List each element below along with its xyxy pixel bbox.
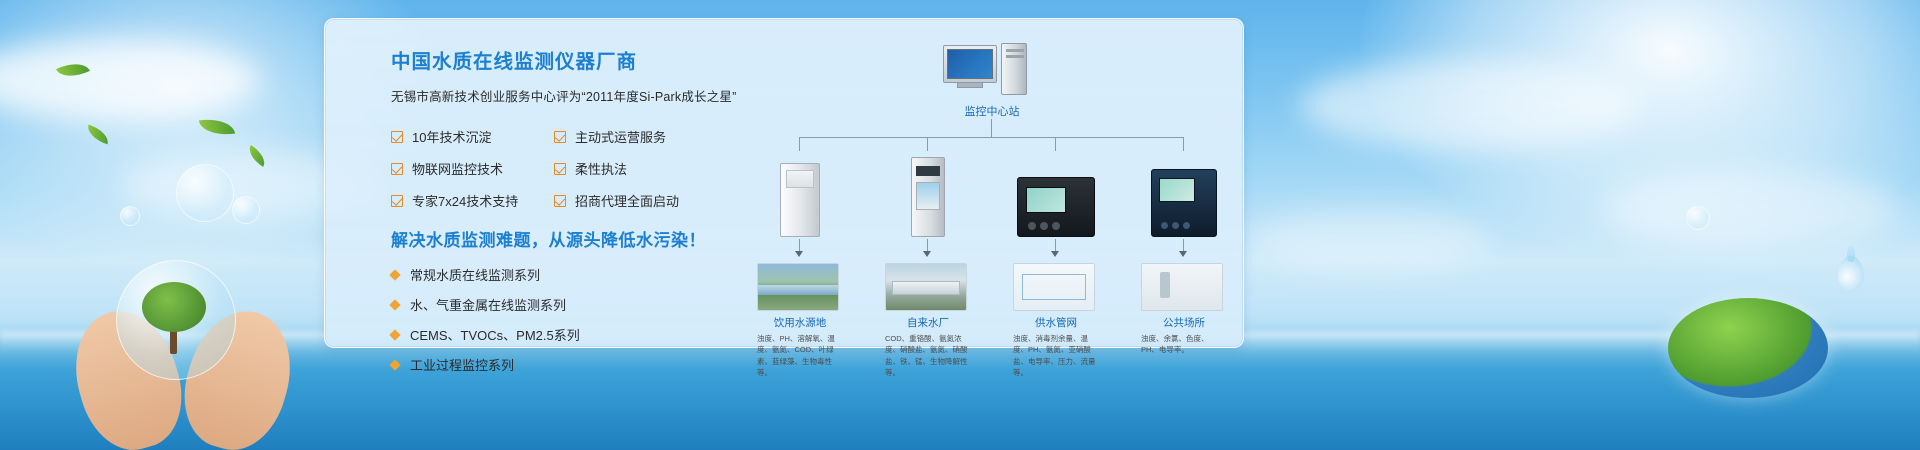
product-line-list: 常规水质在线监测系列 水、气重金属在线监测系列 CEMS、TVOCs、PM2.5… <box>391 265 741 374</box>
checkbox-checked-icon <box>391 195 403 207</box>
connector-branch <box>1055 137 1056 151</box>
scene-node: 自来水厂 COD、重铬酸、氨氮浓度、硝酸盐、氨氮、硝酸盐、铁、锰、生物降解性等。 <box>885 263 971 378</box>
bubble-4 <box>1686 206 1710 230</box>
scene-node: 公共场所 浊度、余氯、色度、PH、电导率。 <box>1141 263 1227 356</box>
black-panel-controller-icon <box>1017 177 1095 237</box>
feature-checklist: 10年技术沉淀 主动式运营服务 物联网监控技术 柔性执法 <box>391 127 741 210</box>
feature-item: 10年技术沉淀 <box>391 127 554 146</box>
list-item: 常规水质在线监测系列 <box>391 265 741 284</box>
page-title: 中国水质在线监测仪器厂商 <box>391 45 741 74</box>
sun-glow <box>1360 0 1920 260</box>
scene-caption: 饮用水源地 <box>757 315 843 330</box>
diamond-bullet-icon <box>389 329 400 340</box>
system-topology-diagram: 监控中心站 <box>755 37 1225 337</box>
bubble-1 <box>176 164 234 222</box>
arrow-down-icon <box>1179 251 1187 257</box>
cloud-5 <box>1250 210 1490 270</box>
scene-node: 饮用水源地 浊度、PH、溶解氧、温度、氨氮、COD、叶绿素、蓝绿藻、生物毒性等。 <box>757 263 843 378</box>
bubble-3 <box>120 206 140 226</box>
feature-item: 专家7x24技术支持 <box>391 191 554 210</box>
feature-label: 专家7x24技术支持 <box>412 191 518 210</box>
center-station-label: 监控中心站 <box>917 103 1067 119</box>
arrow-down-icon <box>1051 251 1059 257</box>
feature-row: 专家7x24技术支持 招商代理全面启动 <box>391 191 741 210</box>
product-line-label: CEMS、TVOCs、PM2.5系列 <box>410 325 580 344</box>
checkbox-checked-icon <box>554 163 566 175</box>
scene-description: 浊度、消毒剂余量、温度、PH、氨氮、亚硝酸盐、电导率、压力、流量等。 <box>1013 333 1097 378</box>
grey-cabinet-analyzer-icon <box>911 157 945 237</box>
blue-panel-controller-icon <box>1151 169 1217 237</box>
list-item: CEMS、TVOCs、PM2.5系列 <box>391 325 741 344</box>
tree-foliage <box>142 282 206 332</box>
product-line-label: 工业过程监控系列 <box>410 355 514 374</box>
section-heading: 解决水质监测难题，从源头降低水污染！ <box>391 226 741 251</box>
feature-item: 物联网监控技术 <box>391 159 554 178</box>
device-image <box>885 151 971 237</box>
controller-buttons <box>1028 222 1060 230</box>
device-node <box>1141 151 1227 237</box>
arrow-down-icon <box>795 251 803 257</box>
pc-tower-icon <box>1001 43 1027 95</box>
scene-caption: 供水管网 <box>1013 315 1099 330</box>
list-item: 水、气重金属在线监测系列 <box>391 295 741 314</box>
diamond-bullet-icon <box>389 299 400 310</box>
scene-photo-water-network <box>1013 263 1095 311</box>
device-node <box>1013 151 1099 237</box>
connector-bus <box>799 137 1183 138</box>
hands-holding-tree-illustration <box>78 260 288 450</box>
scene-caption: 自来水厂 <box>885 315 971 330</box>
checkbox-checked-icon <box>554 195 566 207</box>
checkbox-checked-icon <box>391 163 403 175</box>
device-image <box>1141 151 1227 237</box>
checkbox-checked-icon <box>554 131 566 143</box>
controller-lcd <box>1026 187 1066 213</box>
feature-item: 主动式运营服务 <box>554 127 666 146</box>
scene-photo-public-place <box>1141 263 1223 311</box>
arrow-down-icon <box>923 251 931 257</box>
scene-caption: 公共场所 <box>1141 315 1227 330</box>
connector-branch <box>799 137 800 151</box>
device-node <box>885 151 971 237</box>
controller-buttons <box>1161 222 1190 229</box>
device-node <box>757 151 843 237</box>
diamond-bullet-icon <box>389 359 400 370</box>
scene-description: 浊度、余氯、色度、PH、电导率。 <box>1141 333 1225 356</box>
globe-sphere <box>1668 298 1828 398</box>
scene-description: COD、重铬酸、氨氮浓度、硝酸盐、氨氮、硝酸盐、铁、锰、生物降解性等。 <box>885 333 969 378</box>
feature-label: 主动式运营服务 <box>575 127 666 146</box>
feature-item: 柔性执法 <box>554 159 627 178</box>
scene-description: 浊度、PH、溶解氧、温度、氨氮、COD、叶绿素、蓝绿藻、生物毒性等。 <box>757 333 841 378</box>
feature-row: 10年技术沉淀 主动式运营服务 <box>391 127 741 146</box>
scene-photo-drinking-water-source <box>757 263 839 311</box>
product-line-label: 水、气重金属在线监测系列 <box>410 295 566 314</box>
monitor-screen <box>947 49 993 79</box>
checkbox-checked-icon <box>391 131 403 143</box>
connector-branch <box>927 137 928 151</box>
monitor-icon <box>943 45 997 83</box>
feature-row: 物联网监控技术 柔性执法 <box>391 159 741 178</box>
white-cabinet-analyzer-icon <box>780 163 820 237</box>
controller-lcd <box>1159 178 1195 202</box>
list-item: 工业过程监控系列 <box>391 355 741 374</box>
green-earth-illustration <box>1668 288 1828 398</box>
banner-text-column: 中国水质在线监测仪器厂商 无锡市高新技术创业服务中心评为“2011年度Si-Pa… <box>391 45 741 385</box>
device-image <box>1013 151 1099 237</box>
bubble-2 <box>232 196 260 224</box>
connector-trunk <box>991 119 992 137</box>
feature-label: 招商代理全面启动 <box>575 191 679 210</box>
device-image <box>757 151 843 237</box>
monitor-stand <box>957 83 983 88</box>
feature-label: 10年技术沉淀 <box>412 127 491 146</box>
connector-branch <box>1183 137 1184 151</box>
feature-label: 物联网监控技术 <box>412 159 503 178</box>
banner-panel: 中国水质在线监测仪器厂商 无锡市高新技术创业服务中心评为“2011年度Si-Pa… <box>324 18 1244 348</box>
product-line-label: 常规水质在线监测系列 <box>410 265 540 284</box>
scene-photo-water-plant <box>885 263 967 311</box>
feature-label: 柔性执法 <box>575 159 627 178</box>
scene-node: 供水管网 浊度、消毒剂余量、温度、PH、氨氮、亚硝酸盐、电导率、压力、流量等。 <box>1013 263 1099 378</box>
monitoring-center-computer-icon <box>943 43 1039 95</box>
diamond-bullet-icon <box>389 269 400 280</box>
water-drop-icon <box>1838 256 1864 290</box>
feature-item: 招商代理全面启动 <box>554 191 679 210</box>
page-subtitle: 无锡市高新技术创业服务中心评为“2011年度Si-Park成长之星” <box>391 86 741 105</box>
